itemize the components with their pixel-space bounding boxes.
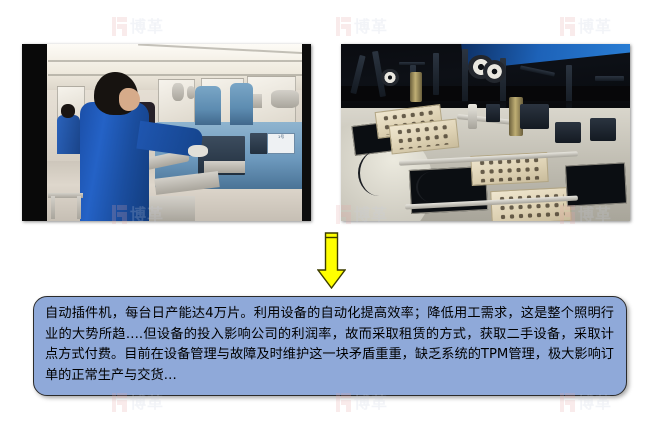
photo-insertion-machine-closeup <box>341 44 630 221</box>
cable <box>358 150 400 196</box>
guide-rail <box>468 104 477 129</box>
cable <box>416 171 453 203</box>
insertion-head <box>486 104 500 122</box>
operator-body <box>80 102 149 221</box>
photo-workshop-operator: 1号 <box>22 44 311 221</box>
boge-logo-icon <box>112 17 127 36</box>
machine-fixture <box>271 90 300 108</box>
boge-logo-icon <box>336 17 351 36</box>
foreground-post-left <box>22 44 47 221</box>
watermark-logo: 博革 <box>336 17 388 36</box>
insertion-head <box>555 122 581 143</box>
watermark-logo: 博革 <box>560 17 612 36</box>
machine-closeup-scene <box>341 44 630 221</box>
component-reel <box>381 69 398 87</box>
background-person <box>57 115 80 154</box>
insertion-head <box>520 104 549 129</box>
machine-arm <box>433 53 439 95</box>
watermark-logo: 博革 <box>112 17 164 36</box>
machine-arm <box>462 49 468 102</box>
callout-textbox: 自动插件机，每台日产能达4万片。利用设备的自动化提高效率；降低用工需求，这是整个… <box>33 296 627 396</box>
boge-logo-icon <box>560 17 575 36</box>
callout-body-text: 自动插件机，每台日产能达4万片。利用设备的自动化提高效率；降低用工需求，这是整个… <box>45 304 614 386</box>
watermark-label: 博革 <box>354 19 388 35</box>
watermark-label: 博革 <box>578 19 612 35</box>
photo-workshop-operator-inner: 1号 <box>22 44 311 221</box>
machine-column <box>195 86 221 125</box>
ceiling-beam <box>48 60 311 62</box>
insertion-head <box>590 118 616 141</box>
machine-fixture <box>187 86 196 98</box>
photo-insertion-machine-inner <box>341 44 630 221</box>
component-reel <box>483 60 506 83</box>
watermark-label: 博革 <box>130 19 164 35</box>
pcb-hole-pattern <box>498 191 565 221</box>
down-arrow-icon <box>317 232 346 289</box>
machine-column <box>230 83 253 125</box>
slide-canvas: 1号 <box>0 0 660 432</box>
floor-cart-leg <box>51 196 55 219</box>
machine-arm <box>595 76 624 81</box>
pcb-hole-pattern <box>395 122 453 150</box>
operator-hand <box>188 145 208 157</box>
foreground-post-right <box>302 44 311 221</box>
workshop-scene: 1号 <box>22 44 311 221</box>
watermark-label: 博革 <box>354 395 388 411</box>
watermark-label: 博革 <box>578 395 612 411</box>
arrow-shape <box>318 233 345 288</box>
machine-number-label: 1号 <box>267 133 295 154</box>
machine-fixture <box>172 83 184 101</box>
watermark-label: 博革 <box>130 395 164 411</box>
floor-cart-leg <box>77 196 81 219</box>
pneumatic-cylinder <box>410 72 422 102</box>
